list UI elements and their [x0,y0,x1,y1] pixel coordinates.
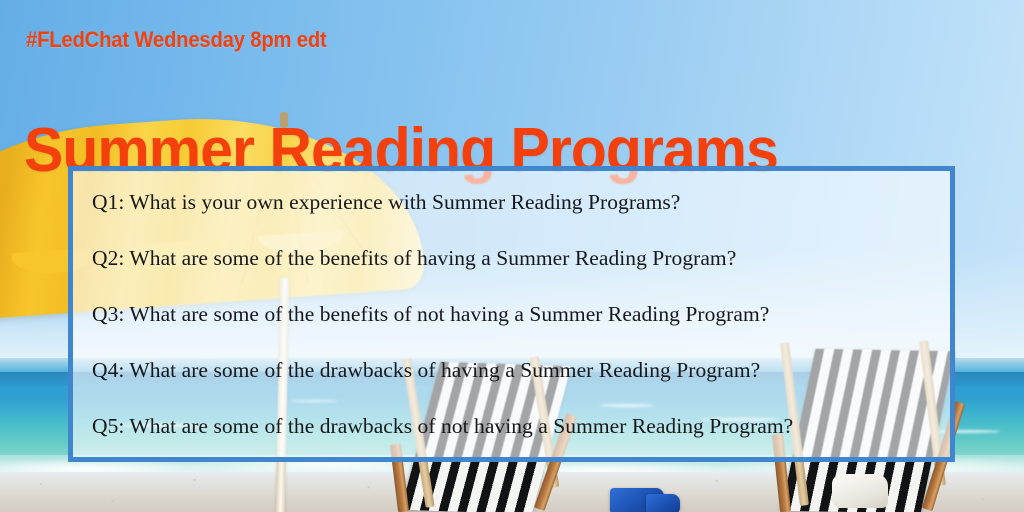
event-kicker: #FLedChat Wednesday 8pm edt [26,27,327,53]
list-item: Q2: What are some of the benefits of hav… [92,245,932,271]
beach-bag [832,474,888,508]
list-item: Q4: What are some of the drawbacks of ha… [92,357,932,383]
questions-panel: Q1: What is your own experience with Sum… [68,166,955,462]
list-item: Q1: What is your own experience with Sum… [92,189,932,215]
questions-list: Q1: What is your own experience with Sum… [73,171,950,457]
list-item: Q5: What are some of the drawbacks of no… [92,413,932,439]
list-item: Q3: What are some of the benefits of not… [92,301,932,327]
poster-canvas: #FLedChat Wednesday 8pm edt Summer Readi… [0,0,1024,512]
blue-beach-towel [646,494,680,512]
